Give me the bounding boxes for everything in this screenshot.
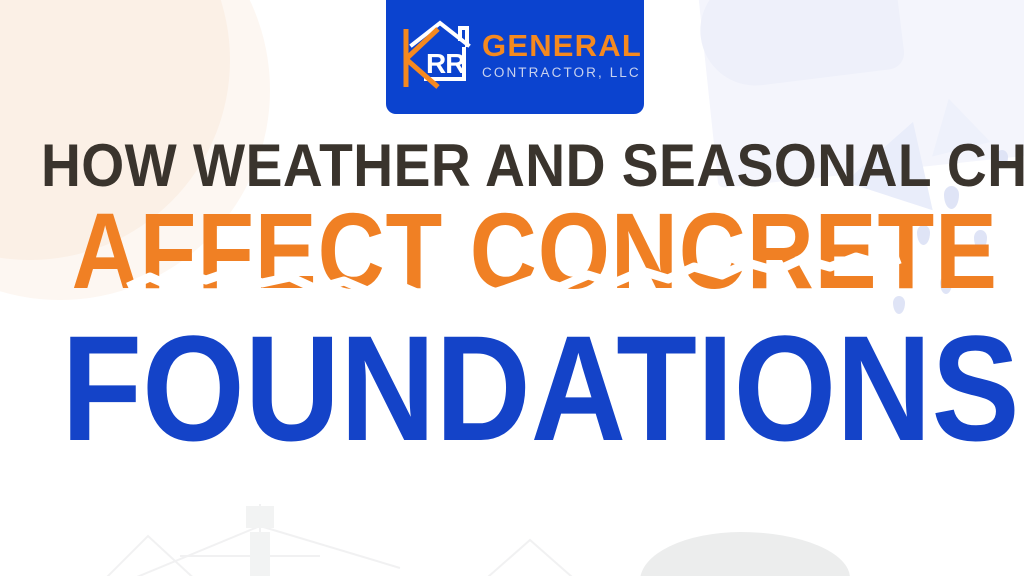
headline-line-3: FOUNDATIONS bbox=[61, 319, 962, 457]
logo-tagline: CONTRACTOR, LLC bbox=[482, 66, 642, 80]
ghost-blob-shape bbox=[640, 532, 850, 576]
ghost-construction-lineart bbox=[60, 496, 740, 576]
headline-line-1: HOW WEATHER AND SEASONAL CHANGES bbox=[41, 138, 983, 193]
logo-wordmark: GENERAL CONTRACTOR, LLC bbox=[482, 28, 642, 80]
poster-canvas: RR GENERAL CONTRACTOR, LLC HOW WEATHER A… bbox=[0, 0, 1024, 576]
krr-house-logo-icon: RR bbox=[396, 15, 480, 93]
headline-line-2-wrapper: AFFECT CONCRETE bbox=[0, 201, 1024, 317]
logo-company-name: GENERAL bbox=[482, 30, 642, 61]
brand-logo[interactable]: RR GENERAL CONTRACTOR, LLC bbox=[386, 0, 644, 114]
headline-line-2: AFFECT CONCRETE bbox=[72, 201, 953, 300]
headline-block: HOW WEATHER AND SEASONAL CHANGES AFFECT … bbox=[0, 138, 1024, 457]
rain-cloud-icon bbox=[694, 0, 906, 92]
svg-text:RR: RR bbox=[426, 48, 465, 79]
